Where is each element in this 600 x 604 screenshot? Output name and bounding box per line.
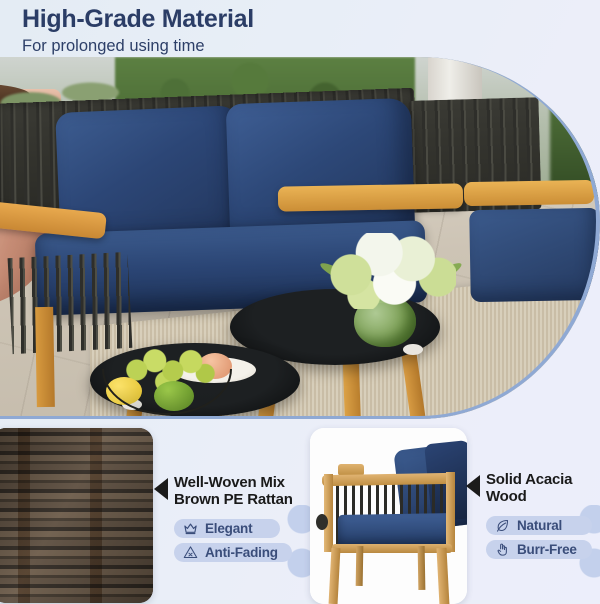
rattan-weave-swatch <box>0 428 153 603</box>
hydrangea-bouquet <box>328 233 456 309</box>
badge-burr-free-label: Burr-Free <box>517 542 577 557</box>
page-title: High-Grade Material <box>22 6 600 33</box>
chair-photo-scene <box>310 428 467 604</box>
loveseat-side-rattan <box>8 252 133 354</box>
chair-front-post <box>324 474 333 552</box>
chair-bottom-rail <box>332 544 452 553</box>
chair-armrest <box>322 473 454 486</box>
loveseat-leg-mid <box>35 307 55 407</box>
chair-side-knob <box>316 514 328 530</box>
callout-wood-head: Solid Acacia Wood <box>466 471 600 506</box>
callout-rattan-head: Well-Woven Mix Brown PE Rattan <box>154 474 304 509</box>
crown-icon <box>183 521 198 536</box>
badge-anti-fading[interactable]: Anti-Fading <box>174 543 292 562</box>
hero-photo <box>0 57 600 419</box>
arrow-left-icon <box>154 478 168 500</box>
callout-wood: Solid Acacia Wood Natural <box>466 471 600 559</box>
page-subtitle: For prolonged using time <box>22 37 600 55</box>
wire-fruit-bowl <box>102 349 232 411</box>
chair-rear-post <box>446 472 455 552</box>
chair-cushion-far-right <box>469 208 600 302</box>
badge-anti-fading-label: Anti-Fading <box>205 545 278 560</box>
badge-natural-label: Natural <box>517 518 562 533</box>
side-table-rear-leg-2 <box>343 357 362 419</box>
callout-rattan-badges: Elegant Anti-Fading <box>174 519 304 562</box>
feature-panels: Well-Woven Mix Brown PE Rattan Elegant <box>0 419 600 600</box>
arrow-left-icon <box>466 475 480 497</box>
hand-touch-icon <box>495 542 510 557</box>
side-table-rear-label <box>403 344 423 355</box>
callout-rattan: Well-Woven Mix Brown PE Rattan Elegant <box>154 474 304 562</box>
hero-photo-clip <box>0 57 600 419</box>
badge-elegant-label: Elegant <box>205 521 252 536</box>
badge-burr-free[interactable]: Burr-Free <box>486 540 592 559</box>
chair-leg-back-right <box>418 546 426 590</box>
chair-leg-front-left <box>329 548 341 604</box>
anti-fading-icon <box>183 545 198 560</box>
chair-leg-front-right <box>436 548 449 604</box>
chair-side-photo <box>310 428 467 604</box>
rattan-weave-shading <box>0 428 153 603</box>
product-feature-card: High-Grade Material For prolonged using … <box>0 0 600 600</box>
callout-wood-badges: Natural Burr-Free <box>486 516 600 559</box>
loveseat-arm-right <box>278 183 463 211</box>
leaf-icon <box>495 518 510 533</box>
bowl-wire-frame <box>102 369 232 415</box>
chair-leg-back-left <box>356 546 364 586</box>
header: High-Grade Material For prolonged using … <box>0 0 600 62</box>
patio-scene <box>0 57 600 419</box>
badge-elegant[interactable]: Elegant <box>174 519 280 538</box>
chair-arm-far-right <box>464 180 594 206</box>
callout-wood-title: Solid Acacia Wood <box>486 471 600 506</box>
badge-natural[interactable]: Natural <box>486 516 592 535</box>
callout-rattan-title: Well-Woven Mix Brown PE Rattan <box>174 474 304 509</box>
